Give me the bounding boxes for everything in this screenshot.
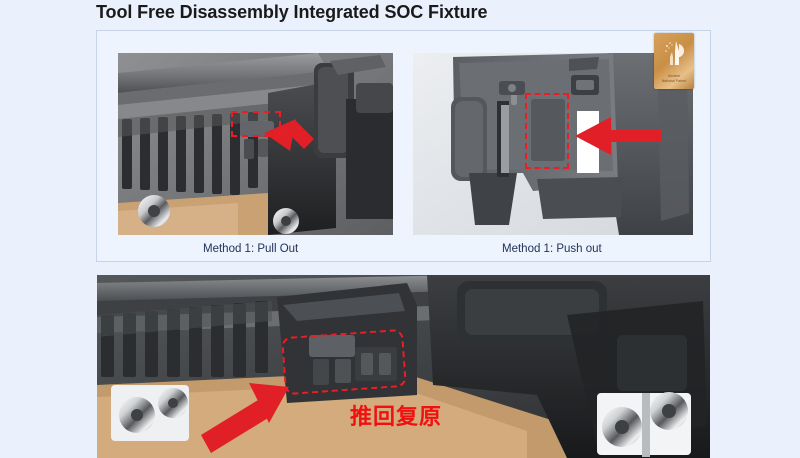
figure-right-caption: Method 1: Push out: [502, 243, 602, 255]
patent-badge-text: Ukraine National Patent: [654, 74, 694, 84]
page-title: Tool Free Disassembly Integrated SOC Fix…: [96, 2, 487, 23]
patent-badge-line2: National Patent: [654, 79, 694, 84]
push-out-highlight-box: [525, 93, 569, 169]
document-page: Tool Free Disassembly Integrated SOC Fix…: [0, 0, 800, 458]
figure-bottom-image: 推回复原: [97, 275, 710, 458]
patent-badge-watermark: Ukraine National Patent: [654, 33, 694, 89]
figure-left-illustration: [118, 53, 393, 235]
pull-out-highlight-box: [231, 111, 281, 137]
figure-left-caption: Method 1: Pull Out: [203, 243, 298, 255]
patent-emblem-icon: [663, 40, 687, 67]
figure-right-image: [413, 53, 693, 235]
push-back-highlight-box: [281, 329, 407, 395]
figure-left-image: [118, 53, 393, 235]
push-back-label: 推回复原: [350, 399, 442, 431]
